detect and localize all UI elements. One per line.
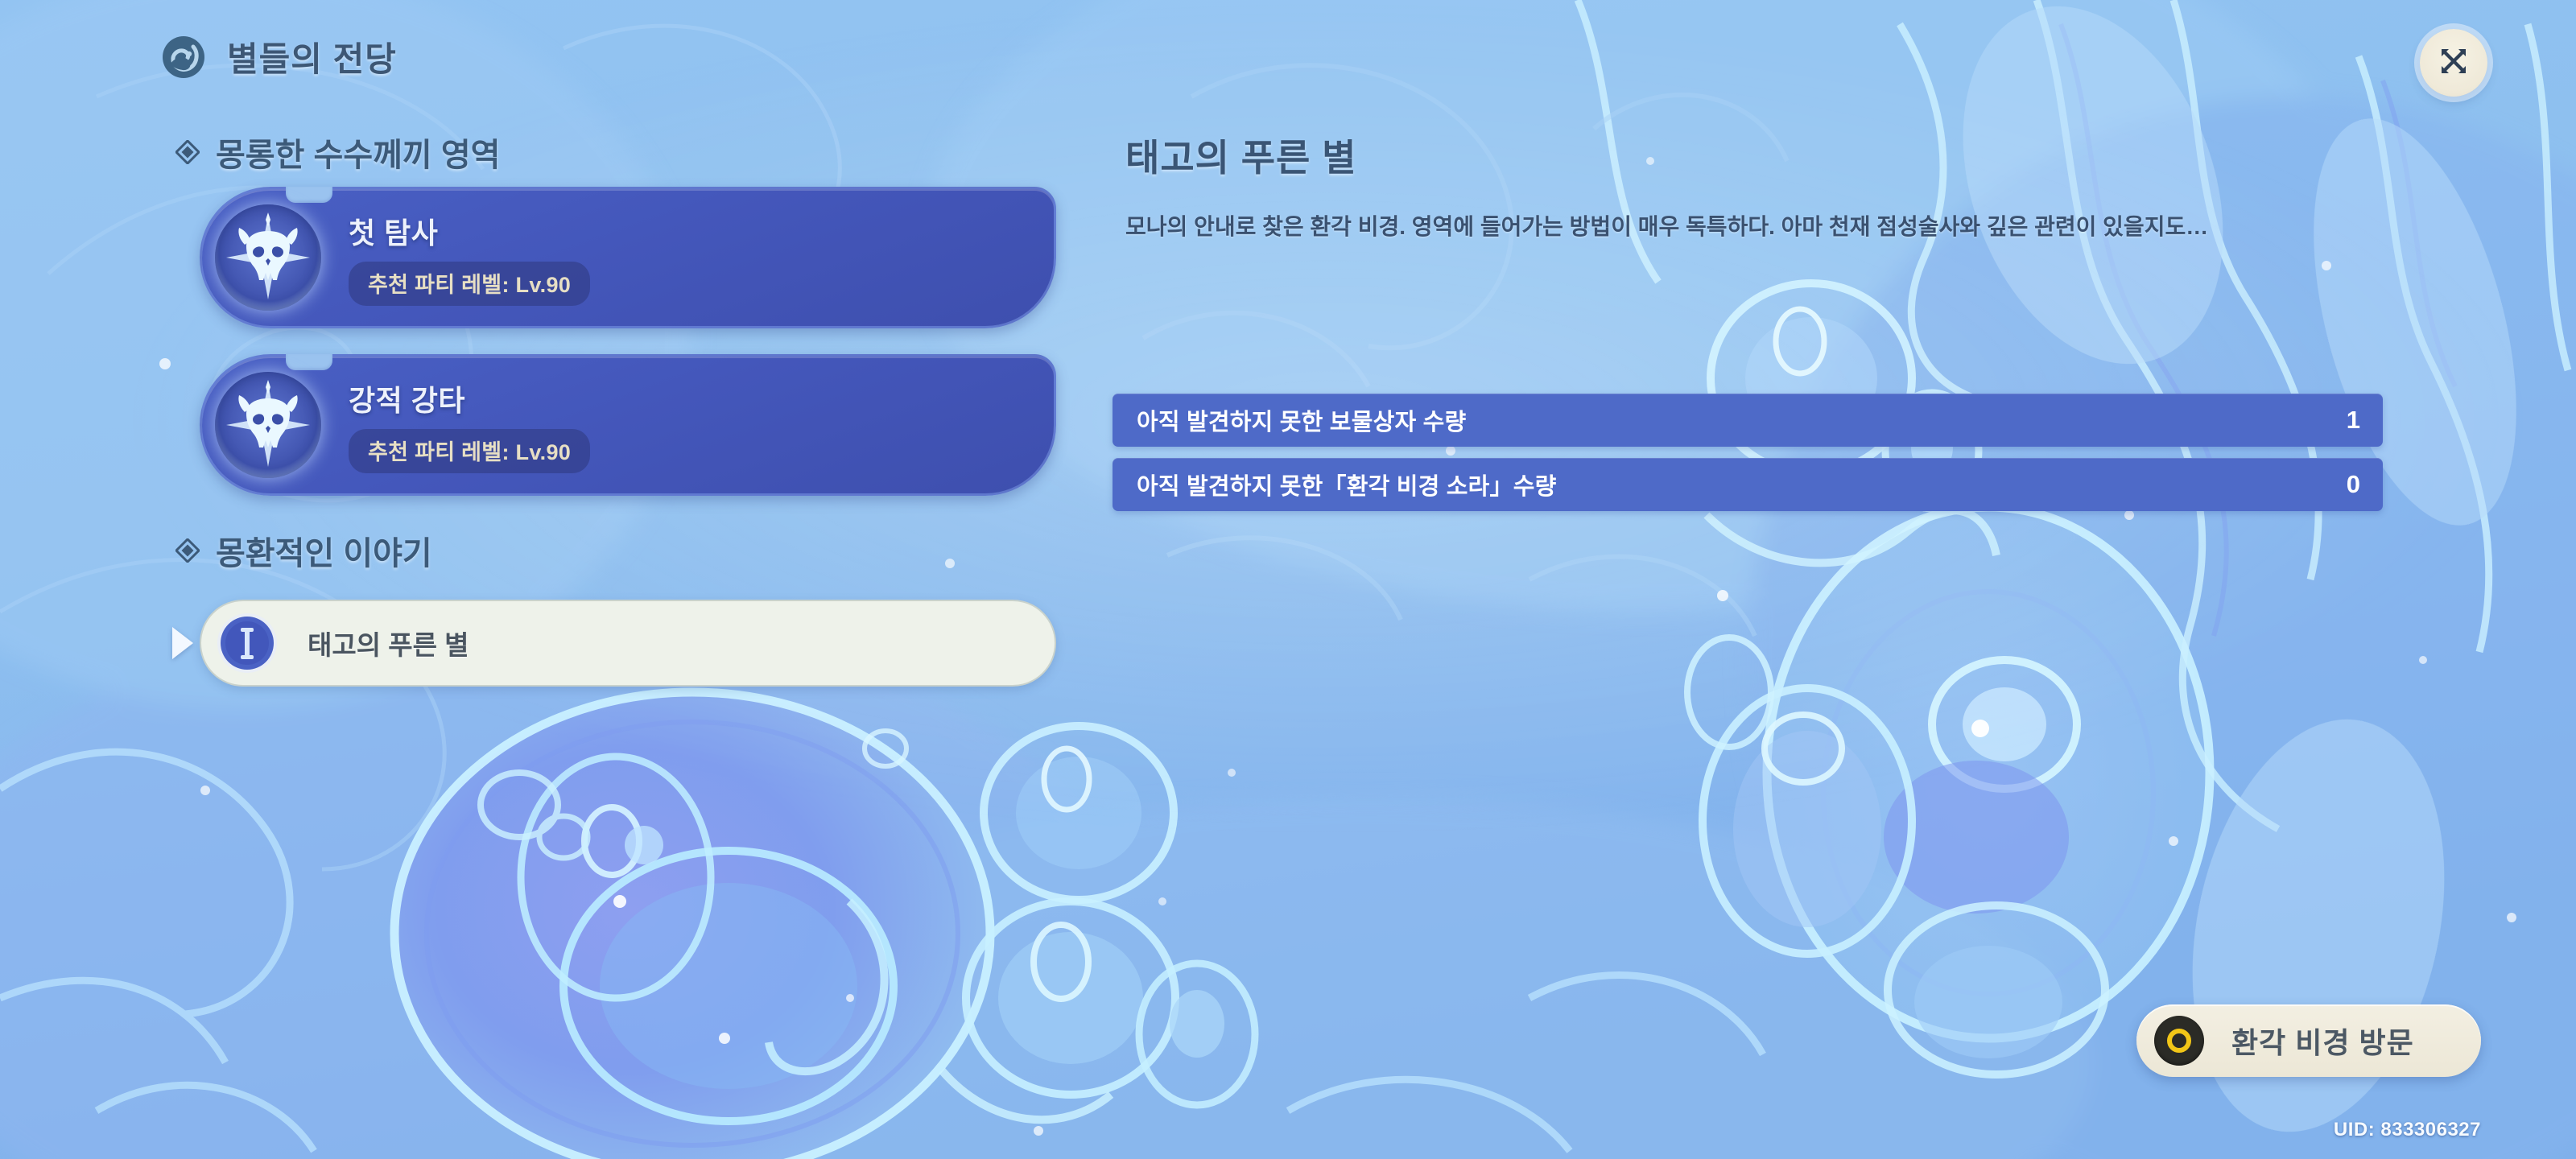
stat-label: 아직 발견하지 못한「환각 비경 소라」수량 — [1137, 468, 1557, 501]
stat-value: 1 — [2347, 406, 2360, 435]
section-header-story: 몽환적인 이야기 — [175, 527, 432, 574]
domain-item-name: 강적 강타 — [349, 377, 590, 419]
visit-domain-button[interactable]: 환각 비경 방문 — [2136, 1004, 2481, 1077]
stat-row: 아직 발견하지 못한「환각 비경 소라」수량 0 — [1113, 458, 2383, 511]
detail-description: 모나의 안내로 찾은 환각 비경. 영역에 들어가는 방법이 매우 독특하다. … — [1125, 211, 2325, 244]
diamond-bullet-icon — [175, 538, 200, 563]
domain-item-name: 첫 탐사 — [349, 210, 590, 252]
domain-item-level-badge: 추천 파티 레벨: Lv.90 — [349, 429, 590, 473]
gamepad-button-ring — [2167, 1029, 2191, 1053]
horned-skull-domain-icon — [215, 372, 321, 478]
section-title-domain: 몽롱한 수수께끼 영역 — [216, 129, 500, 175]
page-header: 별들의 전당 — [161, 32, 397, 81]
close-x-icon — [2436, 43, 2471, 83]
visit-domain-label: 환각 비경 방문 — [2231, 1020, 2414, 1062]
domain-item-first-exploration[interactable]: 첫 탐사 추천 파티 레벨: Lv.90 — [200, 187, 1056, 328]
story-item-name: 태고의 푸른 별 — [308, 624, 469, 662]
horned-skull-domain-icon — [215, 204, 321, 311]
uid-text: UID: 833306327 — [2334, 1119, 2481, 1141]
stat-label: 아직 발견하지 못한 보물상자 수량 — [1137, 403, 1466, 437]
close-button[interactable] — [2420, 29, 2487, 97]
story-list: 태고의 푸른 별 — [200, 600, 1056, 687]
selection-arrow-icon — [172, 627, 193, 659]
domain-item-strong-strike[interactable]: 강적 강타 추천 파티 레벨: Lv.90 — [200, 354, 1056, 496]
detail-stats-list: 아직 발견하지 못한 보물상자 수량 1 아직 발견하지 못한「환각 비경 소라… — [1113, 394, 2383, 522]
domain-item-level-badge: 추천 파티 레벨: Lv.90 — [349, 262, 590, 306]
chapter-numeral-icon — [216, 612, 279, 674]
page-title: 별들의 전당 — [227, 32, 397, 81]
spiral-wave-icon — [161, 35, 206, 80]
section-header-domain: 몽롱한 수수께끼 영역 — [175, 129, 500, 175]
detail-panel: 태고의 푸른 별 모나의 안내로 찾은 환각 비경. 영역에 들어가는 방법이 … — [1125, 129, 2383, 244]
section-title-story: 몽환적인 이야기 — [216, 527, 432, 574]
story-item-selected[interactable]: 태고의 푸른 별 — [200, 600, 1056, 687]
stat-value: 0 — [2347, 470, 2360, 499]
detail-title: 태고의 푸른 별 — [1125, 129, 2383, 182]
stat-row: 아직 발견하지 못한 보물상자 수량 1 — [1113, 394, 2383, 447]
domain-list: 첫 탐사 추천 파티 레벨: Lv.90 — [200, 187, 1056, 522]
diamond-bullet-icon — [175, 140, 200, 164]
gamepad-button-icon — [2154, 1016, 2204, 1066]
